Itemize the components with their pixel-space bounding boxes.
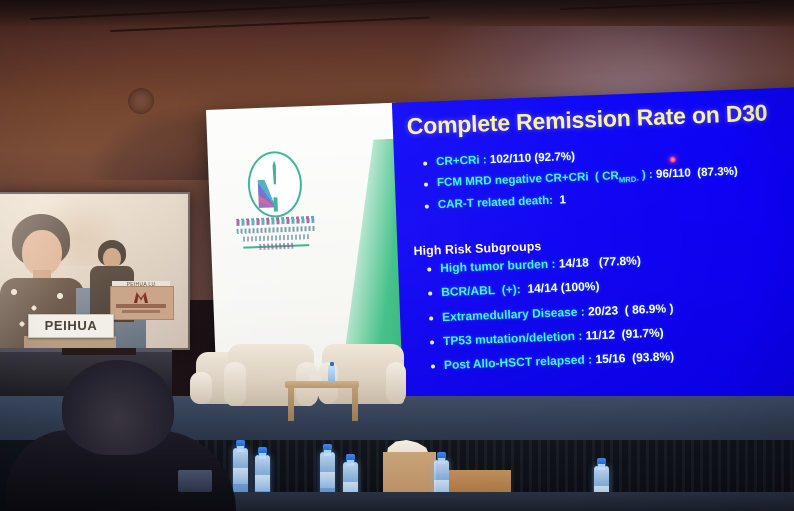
slide-content: Complete Remission Rate on D30 CR+CRi : … bbox=[392, 87, 794, 415]
hotel-sign-line-2 bbox=[122, 310, 160, 313]
slide-top-bullet-list: CR+CRi : 102/110 (92.7%) FCM MRD negativ… bbox=[420, 141, 794, 220]
bottle-neck-6 bbox=[598, 464, 605, 470]
speaker-nameplate-text: PEIHUA bbox=[29, 315, 113, 337]
hotel-sign-line-1 bbox=[116, 304, 166, 308]
audience-tablet-device bbox=[178, 470, 212, 492]
side-table-leg-left bbox=[288, 387, 294, 421]
bottle-neck-2 bbox=[259, 453, 266, 459]
bottle-label-3 bbox=[320, 472, 335, 488]
water-bottle-1 bbox=[233, 448, 248, 498]
wall-medallion-icon bbox=[128, 88, 154, 114]
bullet-extramedullary-disease: Extramedullary Disease : 20/23 ( 86.9% ) bbox=[426, 296, 794, 326]
logo-arabic-text bbox=[236, 216, 314, 226]
logo-english-text-line-2 bbox=[243, 234, 309, 242]
side-table-top bbox=[285, 381, 359, 388]
bottle-label-1 bbox=[233, 468, 248, 484]
stage-chair-center-arm-l bbox=[224, 362, 246, 406]
feed-screen-stand bbox=[62, 348, 136, 355]
bullet-post-allo-hsct-relapsed: Post Allo-HSCT relapsed : 15/16 (93.8%) bbox=[428, 344, 794, 374]
podium-hotel-sign bbox=[110, 286, 174, 320]
logo-stem-icon bbox=[273, 197, 278, 211]
slide-section-heading: High Risk Subgroups bbox=[413, 239, 541, 258]
hospital-logo bbox=[234, 150, 316, 265]
bullet-tp53-mutation-deletion: TP53 mutation/deletion : 11/12 (91.7%) bbox=[427, 320, 794, 350]
tissue-box bbox=[383, 452, 436, 496]
stage-chair-left-arm bbox=[190, 372, 212, 404]
logo-oval-frame-icon bbox=[247, 150, 303, 218]
logo-english-text-line-1 bbox=[237, 226, 315, 234]
slide-title: Complete Remission Rate on D30 bbox=[406, 99, 794, 138]
side-table-leg-right bbox=[352, 387, 358, 421]
bottle-neck-1 bbox=[237, 446, 244, 452]
audience-member-head bbox=[62, 360, 174, 455]
bullet-bcr-abl: BCR/ABL (+): 14/14 (100%) bbox=[425, 271, 794, 301]
bottle-label-2 bbox=[255, 475, 270, 491]
slide-subgroup-bullet-list: High tumor burden : 14/18 (77.8%) BCR/AB… bbox=[424, 247, 794, 384]
stage-chair-right-arm-r bbox=[386, 362, 406, 404]
logo-arabic-subtext bbox=[259, 243, 293, 250]
bottle-neck-3 bbox=[324, 450, 331, 456]
bottle-neck-5 bbox=[438, 458, 445, 464]
presentation-photo-scene: PEIHUA LU PEIHUA Complete Remission Rate… bbox=[0, 0, 794, 511]
bottle-neck-4 bbox=[347, 460, 354, 466]
speaker-nameplate: PEIHUA bbox=[28, 314, 114, 338]
